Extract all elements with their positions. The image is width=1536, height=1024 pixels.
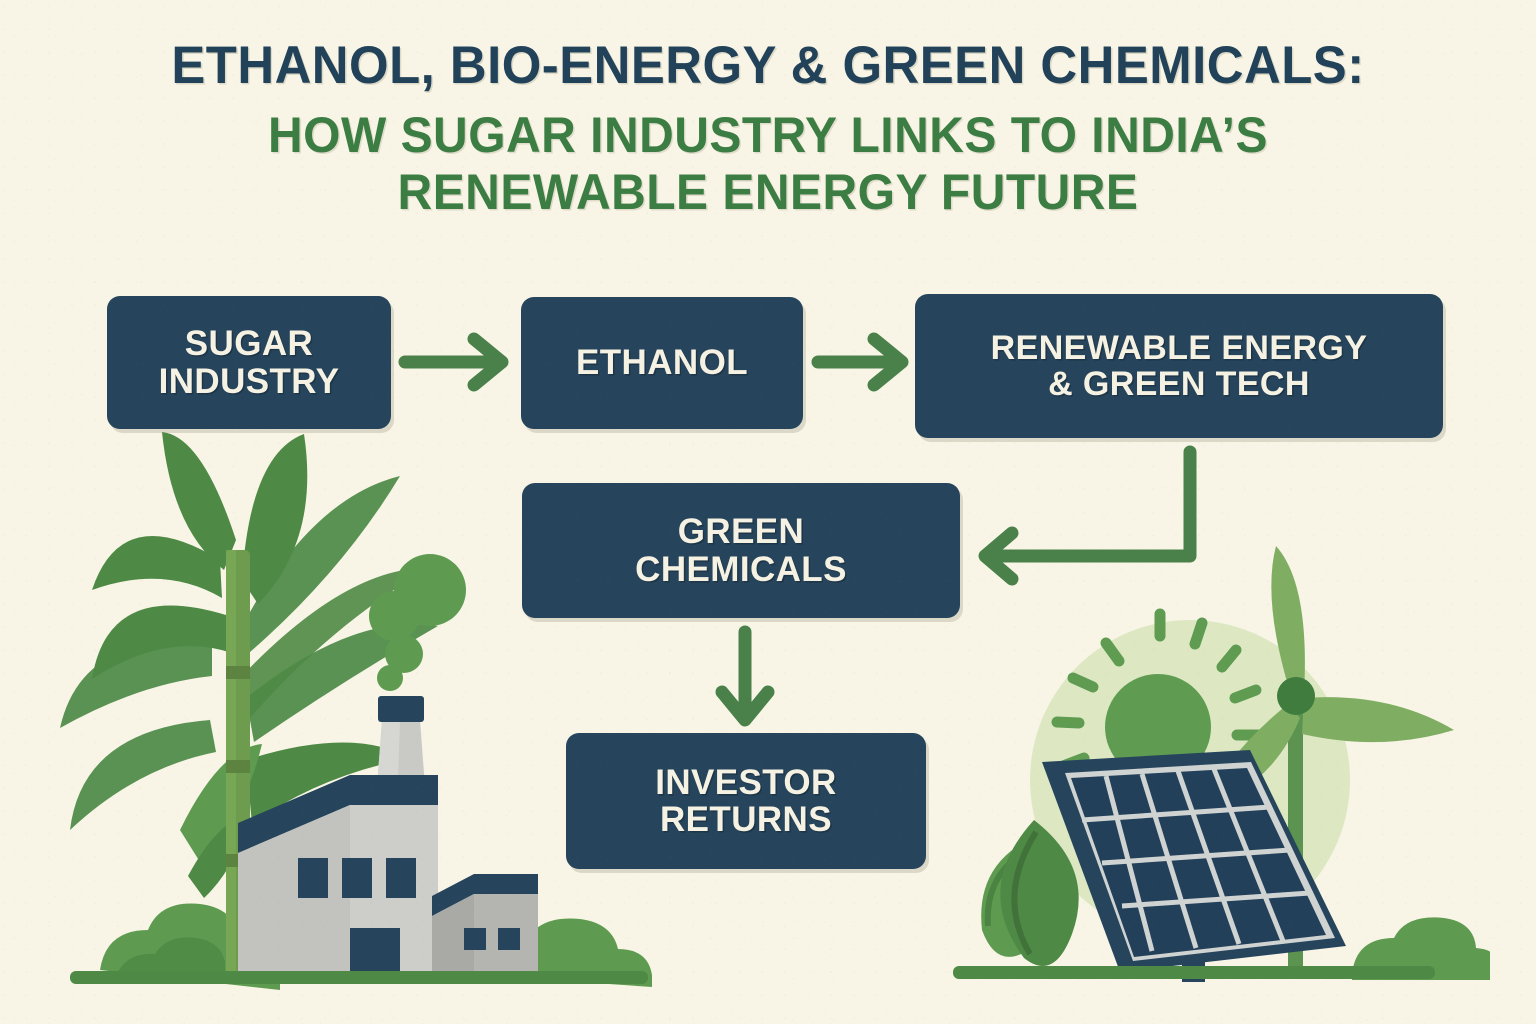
- flow-node-label-line-2: CHEMICALS: [635, 550, 847, 589]
- flow-node-label-line-1: SUGAR: [185, 324, 313, 363]
- ground-line-right: [953, 966, 1435, 979]
- flow-node-sugar-industry[interactable]: SUGAR INDUSTRY: [107, 296, 391, 429]
- infographic-canvas: ETHANOL, BIO-ENERGY & GREEN CHEMICALS: H…: [0, 0, 1536, 1024]
- smoke-puffs: [369, 554, 466, 691]
- connector-sugar-to-ethanol: [405, 339, 502, 385]
- flow-node-label: GREEN CHEMICALS: [635, 513, 847, 587]
- flow-node-label-line-1: GREEN: [678, 512, 804, 551]
- flow-node-label-line-2: & GREEN TECH: [1048, 365, 1310, 403]
- flow-node-investor-returns[interactable]: INVESTOR RETURNS: [566, 733, 926, 869]
- flow-node-green-chemicals[interactable]: GREEN CHEMICALS: [522, 483, 960, 618]
- page-title-line-3: RENEWABLE ENERGY FUTURE: [31, 166, 1506, 220]
- flow-node-label: ETHANOL: [576, 344, 748, 381]
- flow-node-ethanol[interactable]: ETHANOL: [521, 297, 803, 429]
- flow-node-renewable-energy-green-tech[interactable]: RENEWABLE ENERGY & GREEN TECH: [915, 294, 1443, 438]
- ground-line-left: [70, 971, 648, 984]
- factory-annex: [432, 874, 538, 982]
- connector-chemicals-to-investor: [722, 632, 768, 720]
- flow-node-label-line-2: RETURNS: [660, 800, 832, 839]
- page-title-line-2: HOW SUGAR INDUSTRY LINKS TO INDIA’S: [31, 109, 1506, 163]
- flow-node-label: INVESTOR RETURNS: [655, 764, 836, 838]
- connector-ethanol-to-renewable: [818, 339, 902, 385]
- page-title-line-1: ETHANOL, BIO-ENERGY & GREEN CHEMICALS:: [31, 38, 1506, 95]
- flow-node-label-line-1: RENEWABLE ENERGY: [991, 329, 1368, 367]
- flow-node-label: RENEWABLE ENERGY & GREEN TECH: [991, 330, 1368, 402]
- title-block: ETHANOL, BIO-ENERGY & GREEN CHEMICALS: H…: [0, 38, 1536, 220]
- flow-node-label-line-2: INDUSTRY: [159, 362, 340, 401]
- renewable-energy-illustration: [930, 530, 1490, 1024]
- flow-node-label-line-1: INVESTOR: [655, 763, 836, 802]
- flow-node-label: SUGAR INDUSTRY: [159, 325, 340, 399]
